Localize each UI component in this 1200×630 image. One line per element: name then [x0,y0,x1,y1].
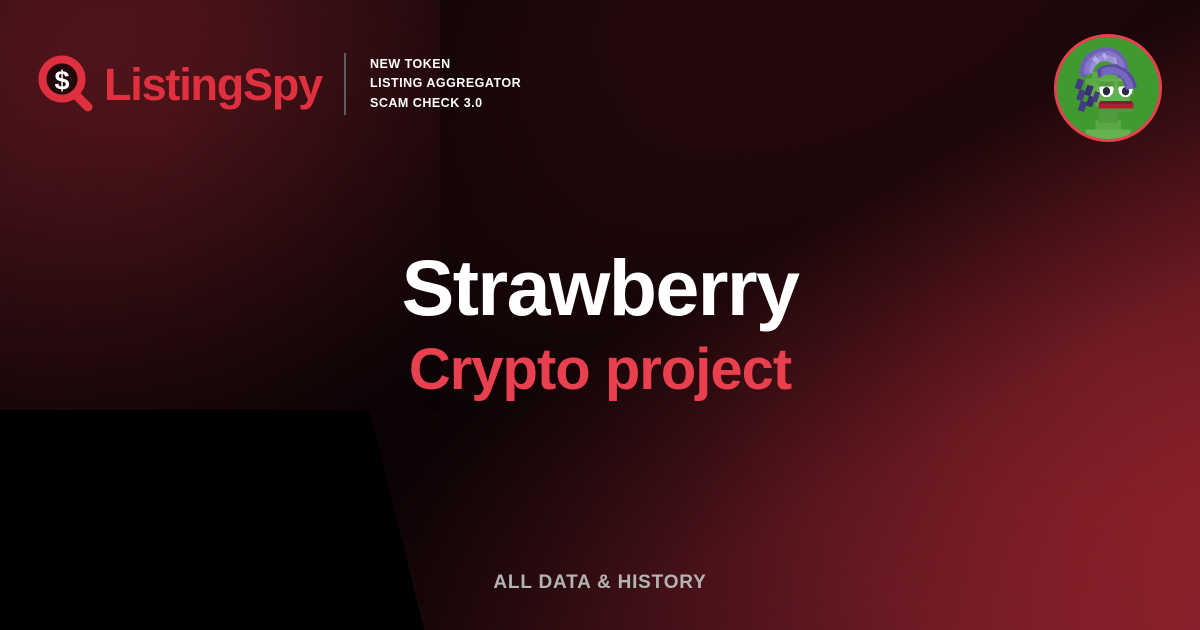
svg-text:$: $ [54,66,69,96]
hero-block: Strawberry Crypto project [0,248,1200,399]
magnifier-dollar-icon: $ [38,55,96,113]
tagline-line-2: LISTING AGGREGATOR [370,74,521,93]
project-avatar[interactable] [1054,34,1162,142]
tagline-line-1: NEW TOKEN [370,55,521,74]
page-subtitle: Crypto project [0,341,1200,399]
page-title: Strawberry [0,248,1200,327]
brand-header[interactable]: $ ListingSpy NEW TOKEN LISTING AGGREGATO… [38,53,521,115]
promo-banner: $ ListingSpy NEW TOKEN LISTING AGGREGATO… [0,0,1200,630]
pepe-frog-avatar-icon [1057,37,1159,139]
footer-note: ALL DATA & HISTORY [0,572,1200,594]
header-divider [344,53,346,115]
brand-name: ListingSpy [104,62,322,107]
brand-tagline: NEW TOKEN LISTING AGGREGATOR SCAM CHECK … [370,55,521,113]
tagline-line-3: SCAM CHECK 3.0 [370,94,521,113]
